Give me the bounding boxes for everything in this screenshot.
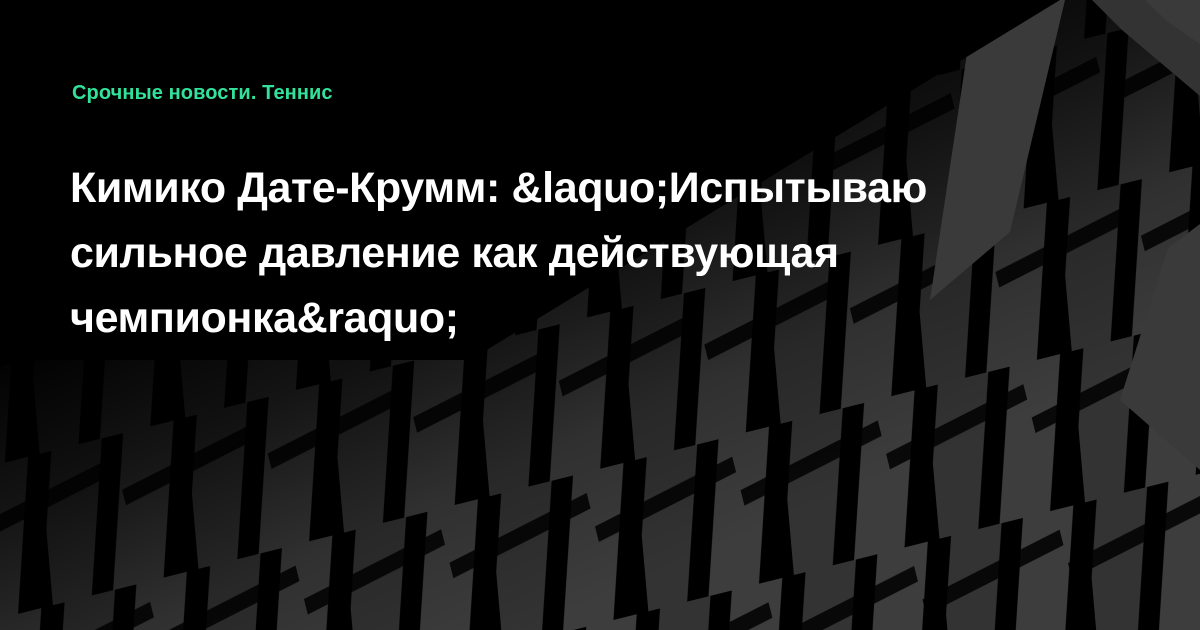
category-kicker: Срочные новости. Теннис: [72, 80, 333, 106]
card-content: Срочные новости. Теннис Кимико Дате-Крум…: [0, 0, 1200, 630]
news-share-card: Срочные новости. Теннис Кимико Дате-Крум…: [0, 0, 1200, 630]
page-title: Кимико Дате-Крумм: &laquo;Испытываю силь…: [70, 156, 1080, 351]
